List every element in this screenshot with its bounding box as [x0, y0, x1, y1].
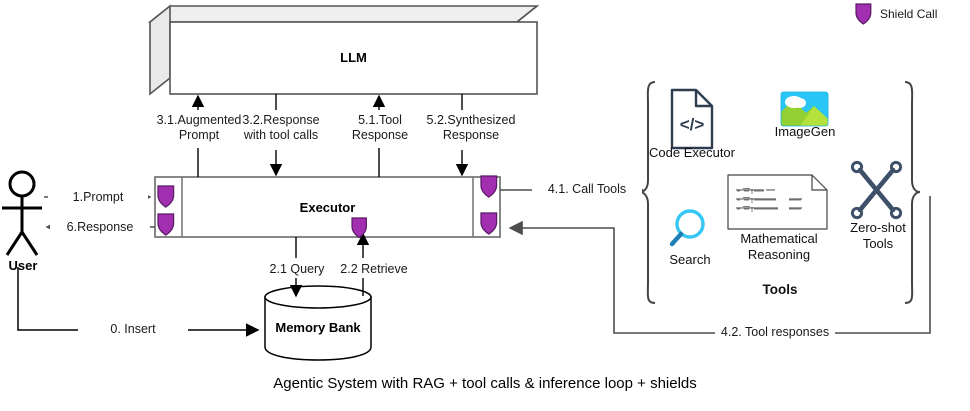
tool-label-imagegen: ImageGen	[762, 124, 848, 140]
tool-label-zero-shot: Zero-shot Tools	[838, 220, 918, 252]
image-icon	[781, 92, 828, 126]
formula-document-icon	[728, 175, 827, 229]
code-document-icon: </>	[672, 90, 712, 148]
tool-label-math-reasoning: Mathematical Reasoning	[731, 231, 827, 263]
edge-label-insert-visible: 0. Insert	[78, 322, 188, 337]
crossed-wrenches-icon	[852, 162, 900, 217]
edge-insert	[18, 267, 258, 330]
user-label: User	[0, 258, 46, 273]
edge-label-call-tools: 4.1. Call Tools	[532, 182, 642, 197]
tool-label-code-executor: Code Executor	[647, 145, 737, 161]
edge-label-response-with-toolcalls: 3.2.Response with tool calls	[222, 113, 340, 143]
tools-group-label: Tools	[730, 282, 830, 298]
edge-label-synthesized-response: 5.2.Synthesized Response	[411, 113, 531, 143]
tools-group-brace-left	[640, 82, 655, 303]
shield-icon-legend	[856, 4, 871, 24]
edge-label-response: 6.Response	[50, 220, 150, 235]
executor-label: Executor	[182, 200, 473, 215]
edge-label-prompt: 1.Prompt	[48, 190, 148, 205]
llm-label: LLM	[170, 50, 537, 65]
edge-label-tool-responses: 4.2. Tool responses	[715, 325, 835, 340]
edge-label-retrieve: 2.2 Retrieve	[330, 262, 418, 277]
svg-text:</>: </>	[680, 115, 705, 134]
tool-label-search: Search	[657, 252, 723, 268]
memory-bank-label: Memory Bank	[265, 320, 371, 335]
diagram-caption: Agentic System with RAG + tool calls & i…	[0, 375, 970, 392]
user-actor[interactable]	[2, 172, 42, 255]
tools-group-brace-right	[905, 82, 920, 303]
legend-label: Shield Call	[880, 7, 970, 22]
edge-label-query: 2.1 Query	[256, 262, 338, 277]
magnifier-icon	[672, 211, 703, 244]
